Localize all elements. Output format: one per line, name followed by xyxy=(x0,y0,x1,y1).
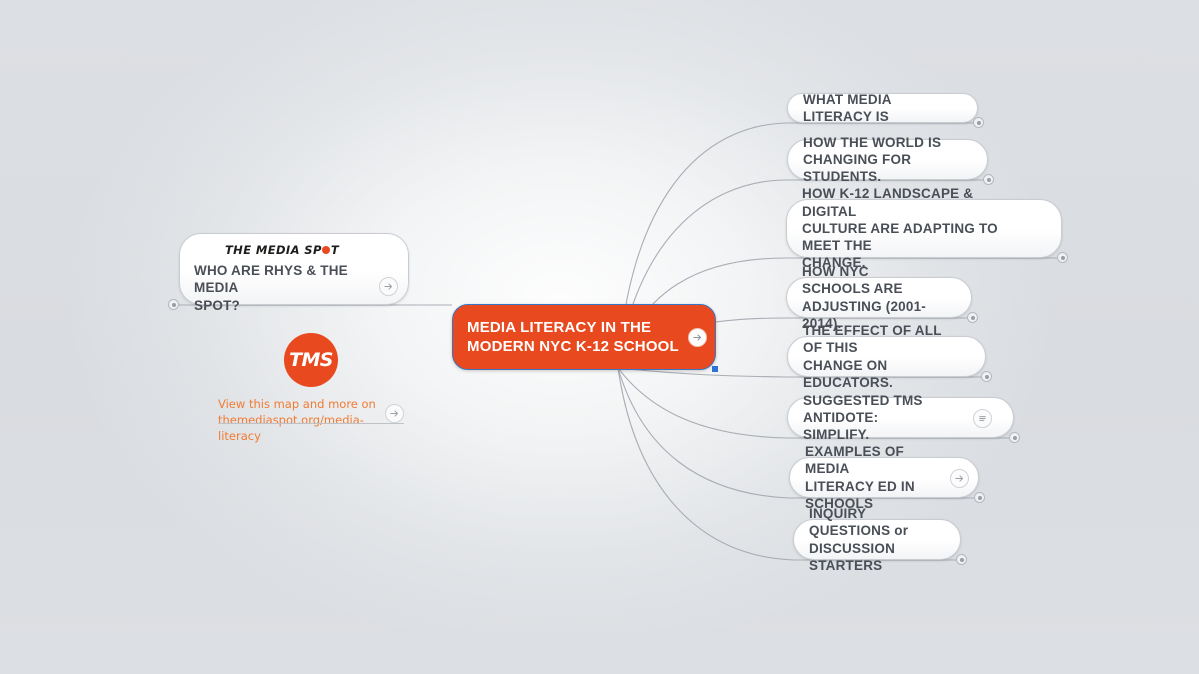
branch-node-2-label: HOW THE WORLD IS CHANGING FOR STUDENTS. xyxy=(803,134,947,186)
endpoint-bullet-left[interactable] xyxy=(168,299,179,310)
the-media-spot-logo: THE MEDIA SPT xyxy=(194,243,370,257)
branch-node-2[interactable]: HOW THE WORLD IS CHANGING FOR STUDENTS. xyxy=(787,139,988,180)
endpoint-bullet-5[interactable] xyxy=(981,371,992,382)
arrow-right-icon[interactable] xyxy=(950,469,969,488)
endpoint-bullet-4[interactable] xyxy=(967,312,978,323)
branch-node-8[interactable]: INQUIRY QUESTIONS or DISCUSSION STARTERS xyxy=(793,519,961,560)
mindmap-canvas[interactable]: MEDIA LITERACY IN THE MODERN NYC K-12 SC… xyxy=(0,0,1199,674)
branch-node-7[interactable]: EXAMPLES OF MEDIA LITERACY ED IN SCHOOLS xyxy=(789,457,979,498)
branch-node-6[interactable]: SUGGESTED TMS ANTIDOTE: SIMPLIFY. xyxy=(787,397,1014,438)
central-node-label: MEDIA LITERACY IN THE MODERN NYC K-12 SC… xyxy=(467,318,679,357)
logo-text-before: THE MEDIA SP xyxy=(225,243,322,257)
endpoint-bullet-3[interactable] xyxy=(1057,252,1068,263)
endpoint-bullet-7[interactable] xyxy=(974,492,985,503)
endpoint-bullet-6[interactable] xyxy=(1009,432,1020,443)
tms-link-label: View this map and more on themediaspot.o… xyxy=(218,397,378,445)
tms-monogram-logo: TMS xyxy=(284,333,338,387)
notes-icon[interactable] xyxy=(973,409,992,428)
branch-node-4[interactable]: HOW NYC SCHOOLS ARE ADJUSTING (2001-2014… xyxy=(786,277,972,318)
tms-link-row[interactable]: View this map and more on themediaspot.o… xyxy=(218,397,404,445)
endpoint-bullet-2[interactable] xyxy=(983,174,994,185)
branch-node-5[interactable]: THE EFFECT OF ALL OF THIS CHANGE ON EDUC… xyxy=(787,336,986,377)
endpoint-bullet-1[interactable] xyxy=(973,117,984,128)
logo-text-after: T xyxy=(331,243,339,257)
branch-node-7-label: EXAMPLES OF MEDIA LITERACY ED IN SCHOOLS xyxy=(805,443,938,512)
branch-node-8-label: INQUIRY QUESTIONS or DISCUSSION STARTERS xyxy=(809,505,920,574)
arrow-right-icon[interactable] xyxy=(379,277,398,296)
branch-node-1[interactable]: WHAT MEDIA LITERACY IS xyxy=(787,93,978,123)
branch-node-6-label: SUGGESTED TMS ANTIDOTE: SIMPLIFY. xyxy=(803,392,973,444)
central-node[interactable]: MEDIA LITERACY IN THE MODERN NYC K-12 SC… xyxy=(452,304,716,370)
resize-handle[interactable] xyxy=(712,366,718,372)
tms-footer-block[interactable]: TMS View this map and more on themediasp… xyxy=(218,333,404,445)
branch-node-3-label: HOW K-12 LANDSCAPE & DIGITAL CULTURE ARE… xyxy=(802,185,1021,271)
tms-underline xyxy=(218,423,404,424)
endpoint-bullet-8[interactable] xyxy=(956,554,967,565)
branch-node-3[interactable]: HOW K-12 LANDSCAPE & DIGITAL CULTURE ARE… xyxy=(786,199,1062,258)
branch-node-5-label: THE EFFECT OF ALL OF THIS CHANGE ON EDUC… xyxy=(803,322,945,391)
left-branch-label: WHO ARE RHYS & THE MEDIA SPOT? xyxy=(194,262,370,314)
left-branch-node[interactable]: THE MEDIA SPT WHO ARE RHYS & THE MEDIA S… xyxy=(179,233,409,305)
logo-orange-dot xyxy=(322,246,330,254)
tms-monogram-text: TMS xyxy=(289,349,333,371)
arrow-right-icon[interactable] xyxy=(385,404,404,423)
branch-node-1-label: WHAT MEDIA LITERACY IS xyxy=(803,91,937,126)
arrow-right-icon[interactable] xyxy=(688,328,707,347)
